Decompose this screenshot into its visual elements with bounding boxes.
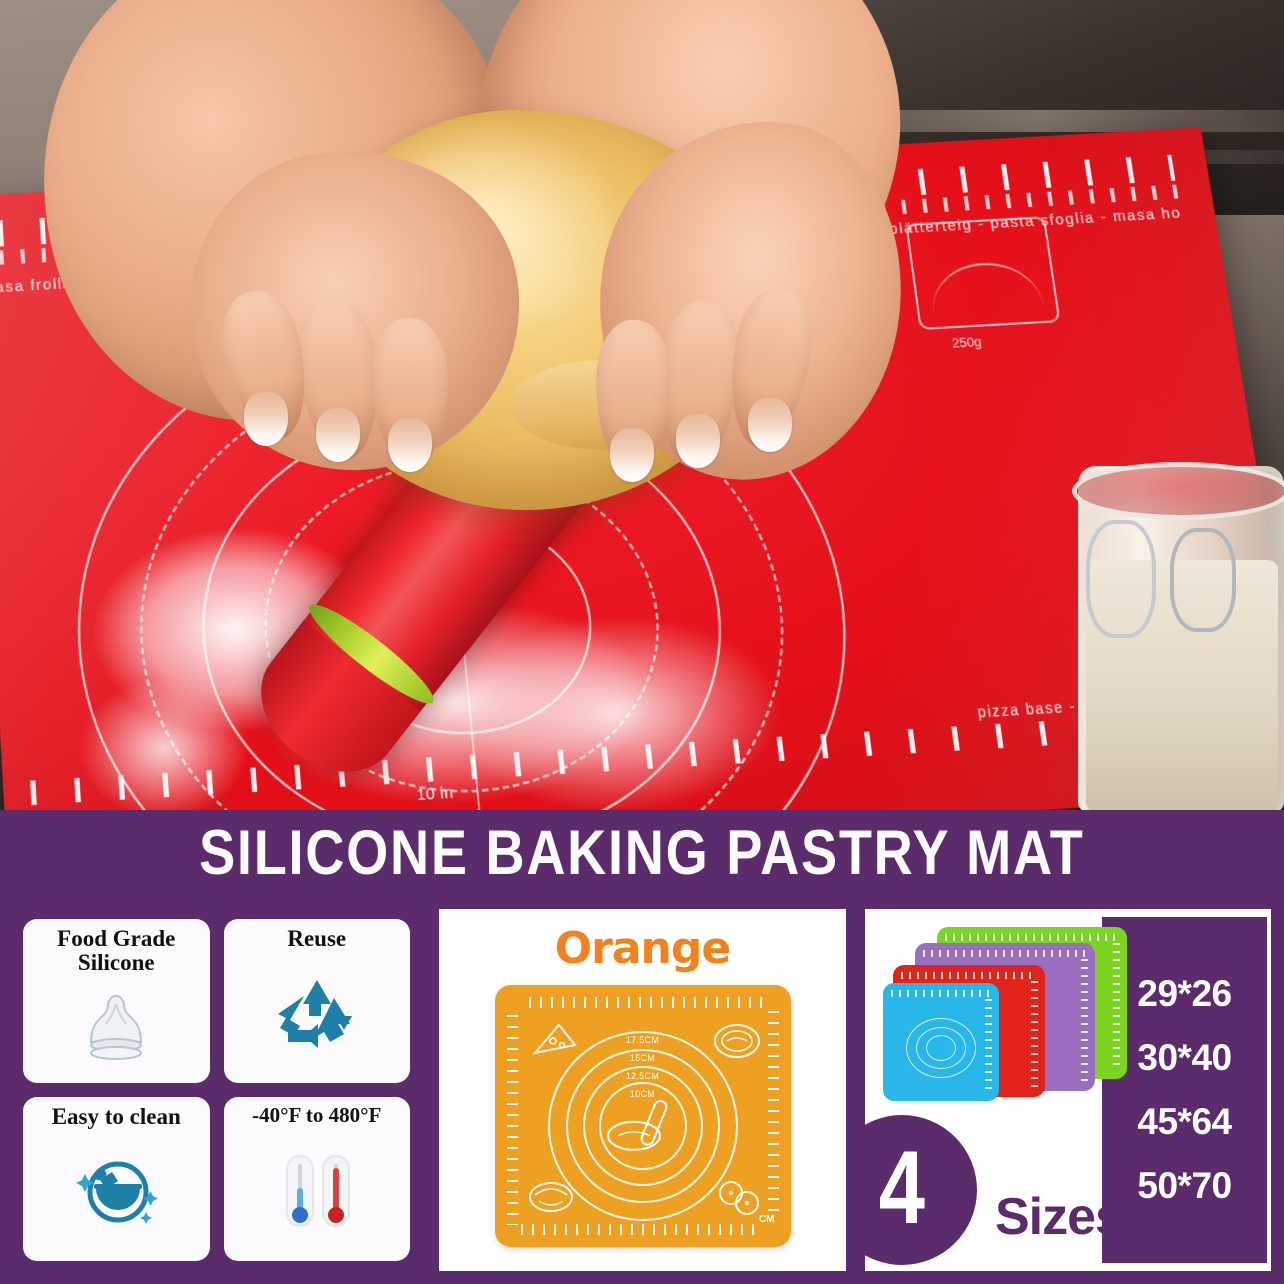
color-name-label: Orange (439, 923, 846, 974)
left-nail-2 (388, 418, 432, 472)
stack-ruler-right (1081, 959, 1088, 1081)
sizes-panel-inner: 4 Sizes 29*26 30*40 45*64 50*70 (865, 909, 1271, 1271)
feature-label: Easy to clean (52, 1105, 181, 1129)
stack-mat-blue (883, 983, 999, 1101)
pizza-slice-icon (529, 1019, 581, 1061)
hero-photo: masa frolla - masa quebrada flaky pastry… (0, 0, 1284, 812)
size-count-number: 4 (879, 1136, 925, 1240)
recycle-icon (230, 951, 405, 1077)
feature-label: -40°F to 480°F (252, 1105, 381, 1127)
stack-ruler-right (985, 999, 992, 1091)
mat-dough-weight-diagram (905, 216, 1060, 330)
feature-label: Reuse (287, 927, 346, 951)
rolling-pin-dough-icon (600, 1094, 686, 1164)
stack-ruler-top (891, 990, 991, 997)
tart-icon (711, 1019, 763, 1061)
stack-ruler-top (923, 950, 1087, 957)
title-banner: SILICONE BAKING PASTRY MAT (0, 810, 1284, 896)
page-title: SILICONE BAKING PASTRY MAT (199, 817, 1085, 889)
orange-ring-label-12-5cm: 12.5CM (626, 1071, 659, 1081)
thermometer-pair-icon (230, 1127, 405, 1255)
orange-mat-ruler-bottom (521, 1224, 757, 1235)
orange-mat: 17.5CM 15CM 12.5CM 10CM (495, 985, 791, 1247)
feature-grid: Food Grade Silicone Reuse (23, 919, 410, 1261)
sizes-word-label: Sizes (995, 1187, 1123, 1247)
size-option-2[interactable]: 30*40 (1137, 1037, 1231, 1079)
flour-jar-clamp-left (1086, 520, 1156, 638)
stack-ring-inner (926, 1035, 956, 1061)
orange-mat-ruler-top (529, 997, 769, 1008)
stack-ruler-top (901, 972, 1037, 979)
sizes-illustration-area: 4 Sizes (865, 909, 1102, 1271)
stack-ruler-right (1113, 943, 1120, 1069)
flour-jar-clamp-right (1170, 528, 1236, 632)
feature-card-food-grade[interactable]: Food Grade Silicone (23, 919, 210, 1083)
left-nail-1 (316, 408, 360, 462)
orange-mat-unit-label: CM (759, 1214, 775, 1225)
oven-handle (840, 110, 1284, 132)
sizes-panel: 4 Sizes 29*26 30*40 45*64 50*70 (859, 903, 1277, 1277)
orange-mat-ruler-right (768, 1011, 779, 1217)
mat-size-stack (879, 927, 1127, 1109)
size-count-badge: 4 (859, 1115, 977, 1265)
bottle-nipple-icon (29, 975, 204, 1077)
orange-mat-ruler-left (507, 1015, 518, 1225)
feature-card-easy-clean[interactable]: Easy to clean (23, 1097, 210, 1261)
orange-ring-label-17-5cm: 17.5CM (626, 1035, 659, 1045)
feature-panel-row: Food Grade Silicone Reuse (0, 896, 1284, 1284)
orange-mat-wrapper: 17.5CM 15CM 12.5CM 10CM (495, 985, 791, 1247)
size-option-4[interactable]: 50*70 (1137, 1165, 1231, 1207)
feature-card-temperature[interactable]: -40°F to 480°F (224, 1097, 411, 1261)
mat-weight-label: 250g (951, 334, 982, 351)
features-panel: Food Grade Silicone Reuse (7, 903, 426, 1277)
right-nail-2 (748, 398, 792, 452)
right-nail-3 (610, 428, 654, 482)
flour-jar-lid (1072, 462, 1284, 520)
product-listing-image: masa frolla - masa quebrada flaky pastry… (0, 0, 1284, 1284)
croissant-icon (525, 1175, 577, 1217)
sparkle-clean-icon (29, 1129, 204, 1255)
right-nail-1 (676, 414, 720, 468)
stack-ruler-right (1031, 981, 1038, 1087)
orange-ring-label-15cm: 15CM (630, 1053, 655, 1063)
stack-ruler-top (945, 934, 1119, 941)
size-option-1[interactable]: 29*26 (1137, 973, 1231, 1015)
cookies-icon (713, 1177, 765, 1219)
feature-card-reuse[interactable]: Reuse (224, 919, 411, 1083)
feature-label: Food Grade Silicone (29, 927, 204, 975)
size-option-3[interactable]: 45*64 (1137, 1101, 1231, 1143)
color-panel: Orange 17.5CM 15CM 12.5CM 10CM (433, 903, 852, 1277)
left-nail-3 (244, 392, 288, 446)
